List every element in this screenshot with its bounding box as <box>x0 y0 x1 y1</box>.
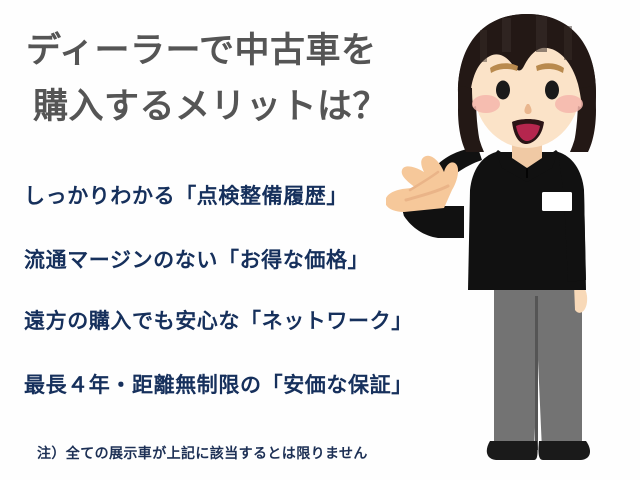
benefit-item-4: 最長４年・距離無制限の「安価な保証」 <box>24 375 413 396</box>
sales-staff-woman-illustration <box>386 0 640 480</box>
benefit-item-1: しっかりわかる「点検整備履歴」 <box>24 186 348 207</box>
disclaimer-note: 注）全ての展示車が上記に該当するとは限りません <box>37 443 368 463</box>
poster-canvas: ディーラーで中古車を 購入するメリットは？ しっかりわかる「点検整備履歴」 流通… <box>0 0 640 480</box>
shoes <box>487 441 590 460</box>
trousers <box>494 282 582 450</box>
page-title-line-1: ディーラーで中古車を <box>26 34 376 69</box>
benefit-item-3: 遠方の購入でも安心な「ネットワーク」 <box>24 311 413 332</box>
benefit-item-2: 流通マージンのない「お得な価格」 <box>24 250 369 271</box>
name-tag <box>542 192 572 211</box>
page-title-line-2: 購入するメリットは？ <box>33 90 388 125</box>
